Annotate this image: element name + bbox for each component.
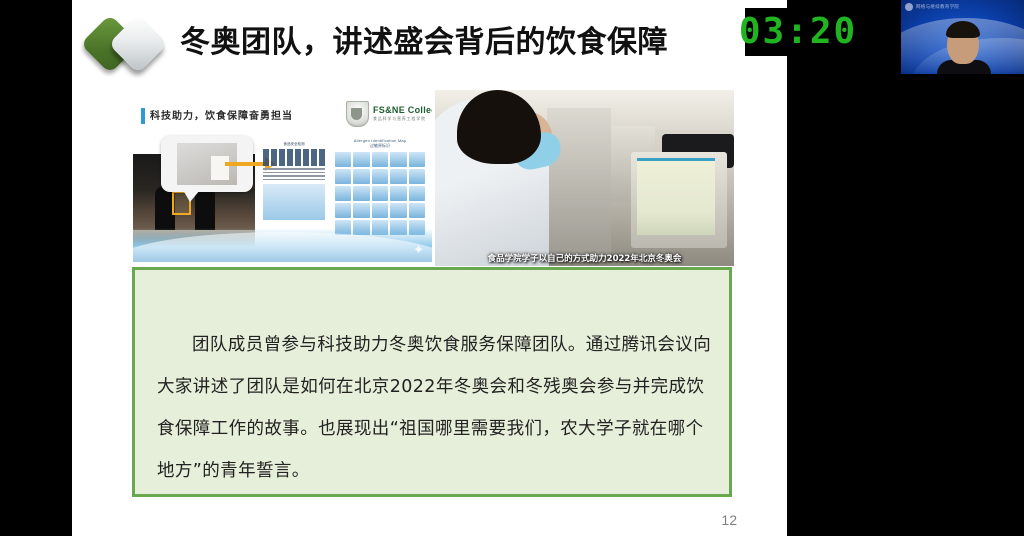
poster-title: 科技助力，饮食保障奋勇担当 <box>150 107 293 122</box>
allergen-icon <box>390 152 406 167</box>
allergen-icon <box>372 152 388 167</box>
page-title: 冬奥团队，讲述盛会背后的饮食保障 <box>180 17 668 61</box>
document-heading: 食品安全检测 <box>263 142 325 147</box>
poster-accent-bar <box>141 108 145 124</box>
watermark-badge-icon <box>905 3 913 11</box>
slide-header: 冬奥团队，讲述盛会背后的饮食保障 <box>72 0 787 86</box>
allergen-icon-grid <box>335 152 425 235</box>
lab-instrument <box>547 108 611 258</box>
webcam-watermark: 网络与继续教育学院 <box>905 3 959 11</box>
allergen-icon <box>353 186 369 201</box>
allergen-icon <box>409 186 425 201</box>
poster-slide: 科技助力，饮食保障奋勇担当 FS&NE College 食品科学与营养工程学院 <box>133 94 432 262</box>
callout-document <box>211 156 229 180</box>
body-text-box: 团队成员曾参与科技助力冬奥饮食服务保障团队。通过腾讯会议向大家讲述了团队是如何在… <box>132 267 732 497</box>
allergen-icon <box>353 203 369 218</box>
star-icon: ✦ <box>413 242 424 258</box>
lab-monitor <box>631 152 727 248</box>
arrow-line <box>225 162 267 166</box>
diamond-logo-icon <box>85 14 171 74</box>
presentation-slide: 冬奥团队，讲述盛会背后的饮食保障 科技助力，饮食保障奋勇担当 FS&NE Col… <box>72 0 787 536</box>
video-caption: 食品学院学子以自己的方式助力2022年北京冬奥会 <box>435 252 734 264</box>
screen-share-view: 冬奥团队，讲述盛会背后的饮食保障 科技助力，饮食保障奋勇担当 FS&NE Col… <box>0 0 1024 536</box>
college-name: FS&NE College <box>373 105 432 115</box>
document-line <box>263 179 325 181</box>
document-line <box>263 175 325 177</box>
video-right-lab-scene: 食品学院学子以自己的方式助力2022年北京冬奥会 <box>435 90 734 266</box>
allergen-map-subtitle: 过敏原标识 <box>335 143 425 149</box>
allergen-icon <box>335 203 351 218</box>
poster-wave-footer: ✦ <box>133 228 432 262</box>
allergen-icon <box>409 203 425 218</box>
allergen-icon <box>372 186 388 201</box>
allergen-icon <box>390 186 406 201</box>
allergen-icon <box>335 169 351 184</box>
countdown-timer: 03:20 <box>745 8 851 56</box>
allergen-icon <box>372 203 388 218</box>
allergen-icon <box>335 152 351 167</box>
allergen-icon <box>409 152 425 167</box>
video-left-poster-scene: 科技助力，饮食保障奋勇担当 FS&NE College 食品科学与营养工程学院 <box>130 90 435 266</box>
body-paragraph: 团队成员曾参与科技助力冬奥饮食服务保障团队。通过腾讯会议向大家讲述了团队是如何在… <box>157 324 713 492</box>
monitor-screen <box>637 158 715 235</box>
allergen-icon <box>353 169 369 184</box>
allergen-icon <box>390 203 406 218</box>
document-line <box>263 172 325 174</box>
page-number: 12 <box>721 512 737 528</box>
allergen-icon <box>409 169 425 184</box>
allergen-icon <box>353 152 369 167</box>
document-line <box>263 168 325 170</box>
allergen-icon <box>372 169 388 184</box>
document-panel <box>263 184 325 220</box>
timer-value: 03:20 <box>739 14 857 50</box>
watermark-text: 网络与继续教育学院 <box>916 4 959 10</box>
college-subtitle: 食品科学与营养工程学院 <box>373 116 426 122</box>
college-crest-icon <box>346 101 369 127</box>
allergen-icon <box>390 169 406 184</box>
embedded-video-player[interactable]: 科技助力，饮食保障奋勇担当 FS&NE College 食品科学与营养工程学院 <box>130 90 734 266</box>
allergen-icon <box>335 186 351 201</box>
webcam-tile[interactable]: 网络与继续教育学院 <box>901 0 1024 74</box>
document-banner <box>263 149 325 166</box>
